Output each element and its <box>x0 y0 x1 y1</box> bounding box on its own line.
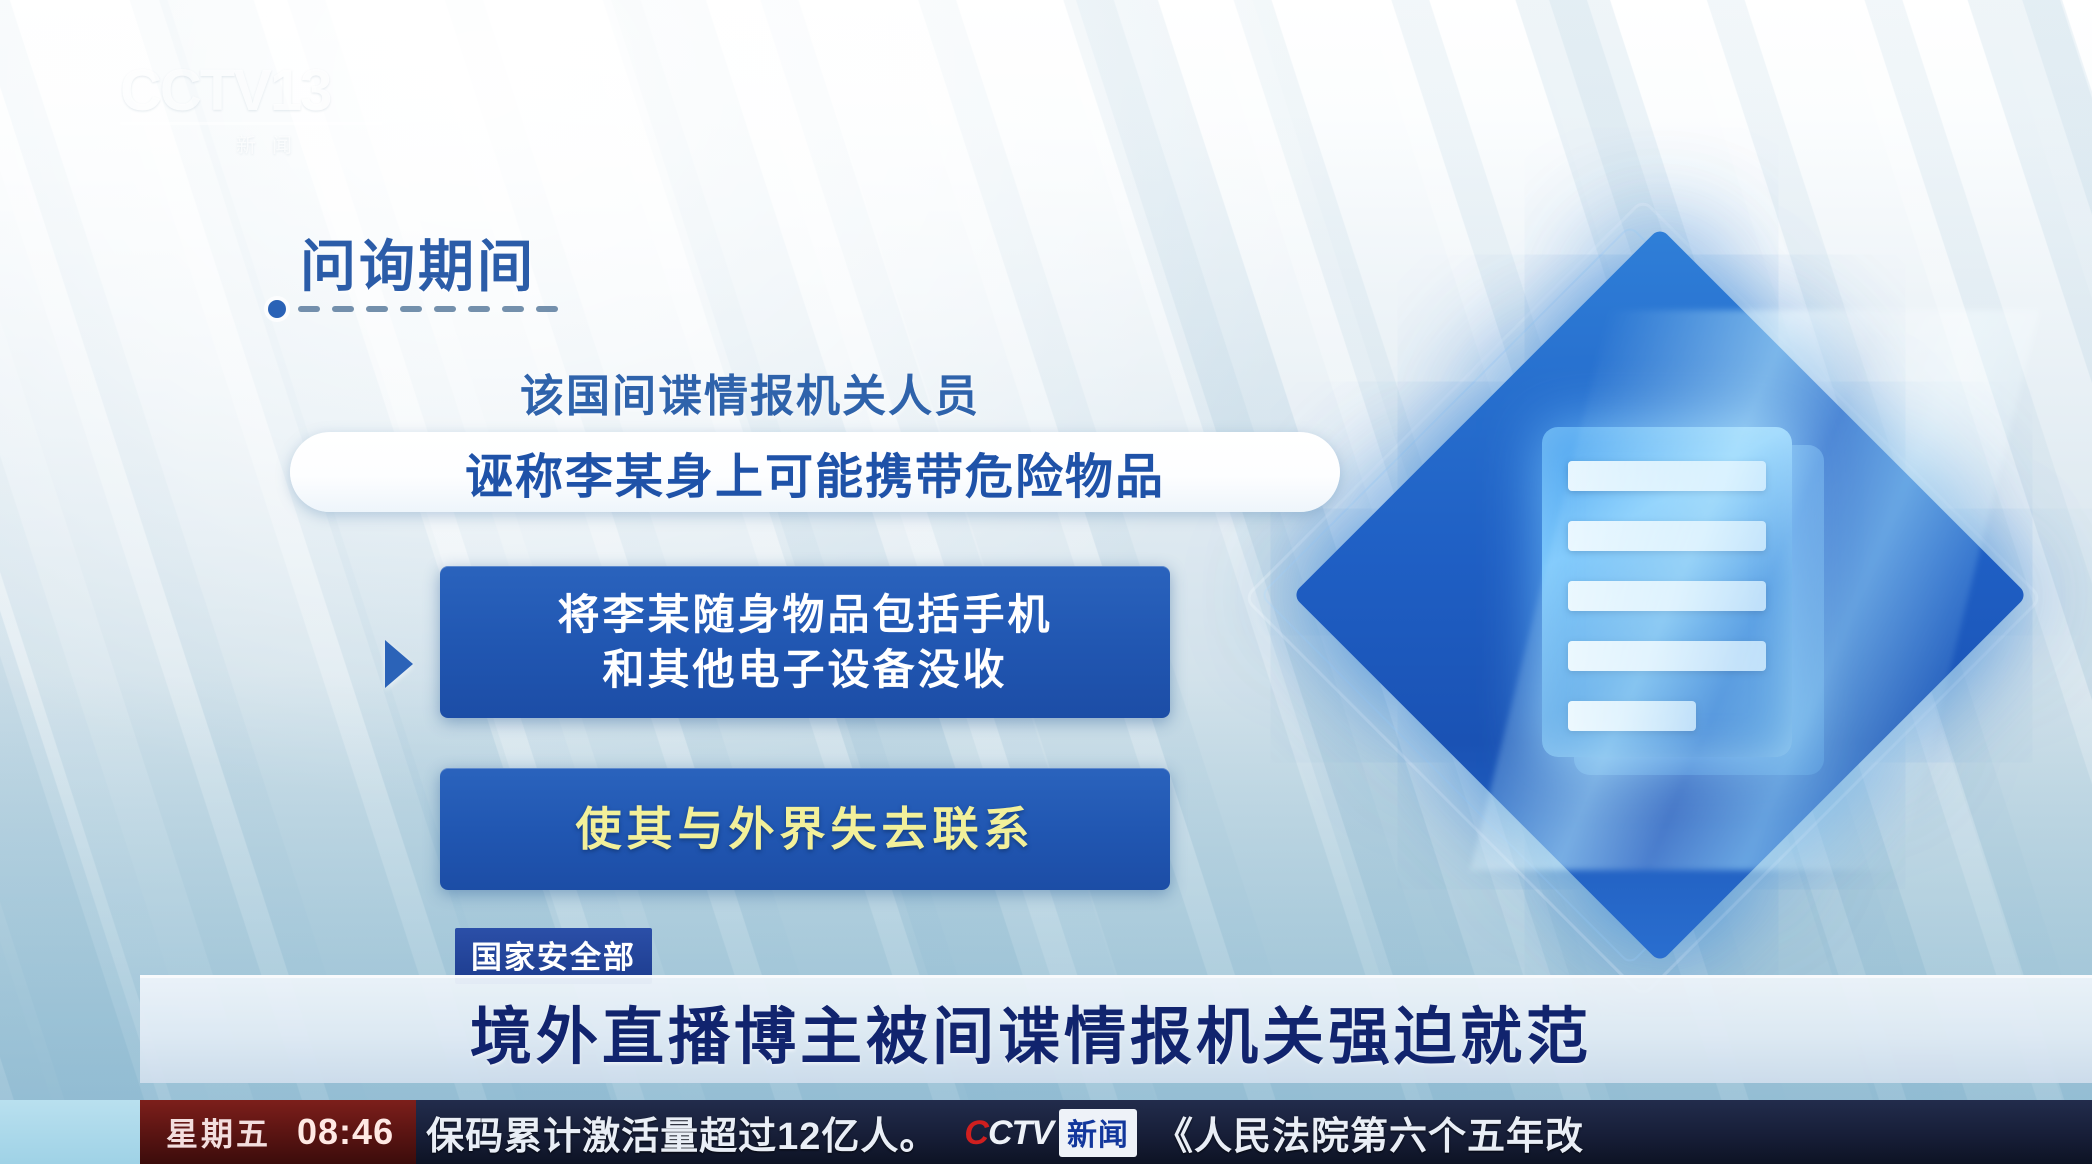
watermark-subtitle: 新闻 <box>120 129 410 158</box>
dash-segment <box>298 306 320 312</box>
watermark-cctv: CCTV <box>120 58 270 123</box>
highlight-pill-text: 诬称李某身上可能携带危险物品 <box>465 437 1165 507</box>
watermark-number: 13 <box>270 58 331 123</box>
page-title: 问询期间 <box>300 222 536 303</box>
statement-box-2-line-1: 使其与外界失去联系 <box>576 799 1035 860</box>
swoosh-arc-white <box>139 926 404 1086</box>
document-diamond-icon <box>1290 225 2030 965</box>
ticker-logo-badge: 新闻 <box>1059 1109 1137 1157</box>
dash-segment <box>536 306 558 312</box>
statement-box-1-line-2: 和其他电子设备没收 <box>602 642 1007 697</box>
lower-third-bar: 境外直播博主被间谍情报机关强迫就范 <box>140 975 2092 1083</box>
subline-text: 该国间谍情报机关人员 <box>520 360 980 424</box>
dash-segment <box>366 306 388 312</box>
ticker-logo-cctv: CCTV <box>964 1114 1053 1153</box>
statement-box-2: 使其与外界失去联系 <box>440 768 1170 890</box>
ticker-left-cap <box>0 1100 140 1164</box>
triangle-right-icon <box>385 640 413 688</box>
ticker-clock-block: 星期五 08:46 <box>140 1100 416 1164</box>
dotted-underline <box>268 300 558 318</box>
cctv-swoosh-icon <box>139 926 404 1086</box>
ticker-message-area: 保码累计激活量超过12亿人。 CCTV 新闻 《人民法院第六个五年改 <box>416 1100 2092 1164</box>
dash-segment <box>502 306 524 312</box>
bullet-dot-icon <box>268 300 286 318</box>
ticker-weekday: 星期五 <box>166 1109 271 1155</box>
statement-box-1-line-1: 将李某随身物品包括手机 <box>557 587 1052 642</box>
headline-text: 境外直播博主被间谍情报机关强迫就范 <box>470 986 1592 1076</box>
cctv13-watermark: CCTV13 新闻 <box>120 62 410 167</box>
cctv-news-logo: CCTV 新闻 <box>964 1109 1137 1157</box>
dash-segment <box>468 306 490 312</box>
statement-box-1: 将李某随身物品包括手机 和其他电子设备没收 <box>440 566 1170 718</box>
logo-letter-c: C <box>964 1114 988 1152</box>
news-ticker: 星期五 08:46 保码累计激活量超过12亿人。 CCTV 新闻 《人民法院第六… <box>0 1100 2092 1164</box>
ticker-message: 保码累计激活量超过12亿人。 <box>426 1105 938 1160</box>
dash-segment <box>332 306 354 312</box>
highlight-pill: 诬称李某身上可能携带危险物品 <box>290 432 1340 512</box>
dash-segment <box>434 306 456 312</box>
broadcast-screen: CCTV13 新闻 问询期间 该国间谍情报机关人员 诬称李某身上可能携带危险物品… <box>0 0 2092 1164</box>
ticker-trailing-text: 《人民法院第六个五年改 <box>1155 1105 1584 1160</box>
dash-segment <box>400 306 422 312</box>
watermark-logo-text: CCTV13 <box>120 62 410 120</box>
ticker-clock: 08:46 <box>297 1111 394 1153</box>
